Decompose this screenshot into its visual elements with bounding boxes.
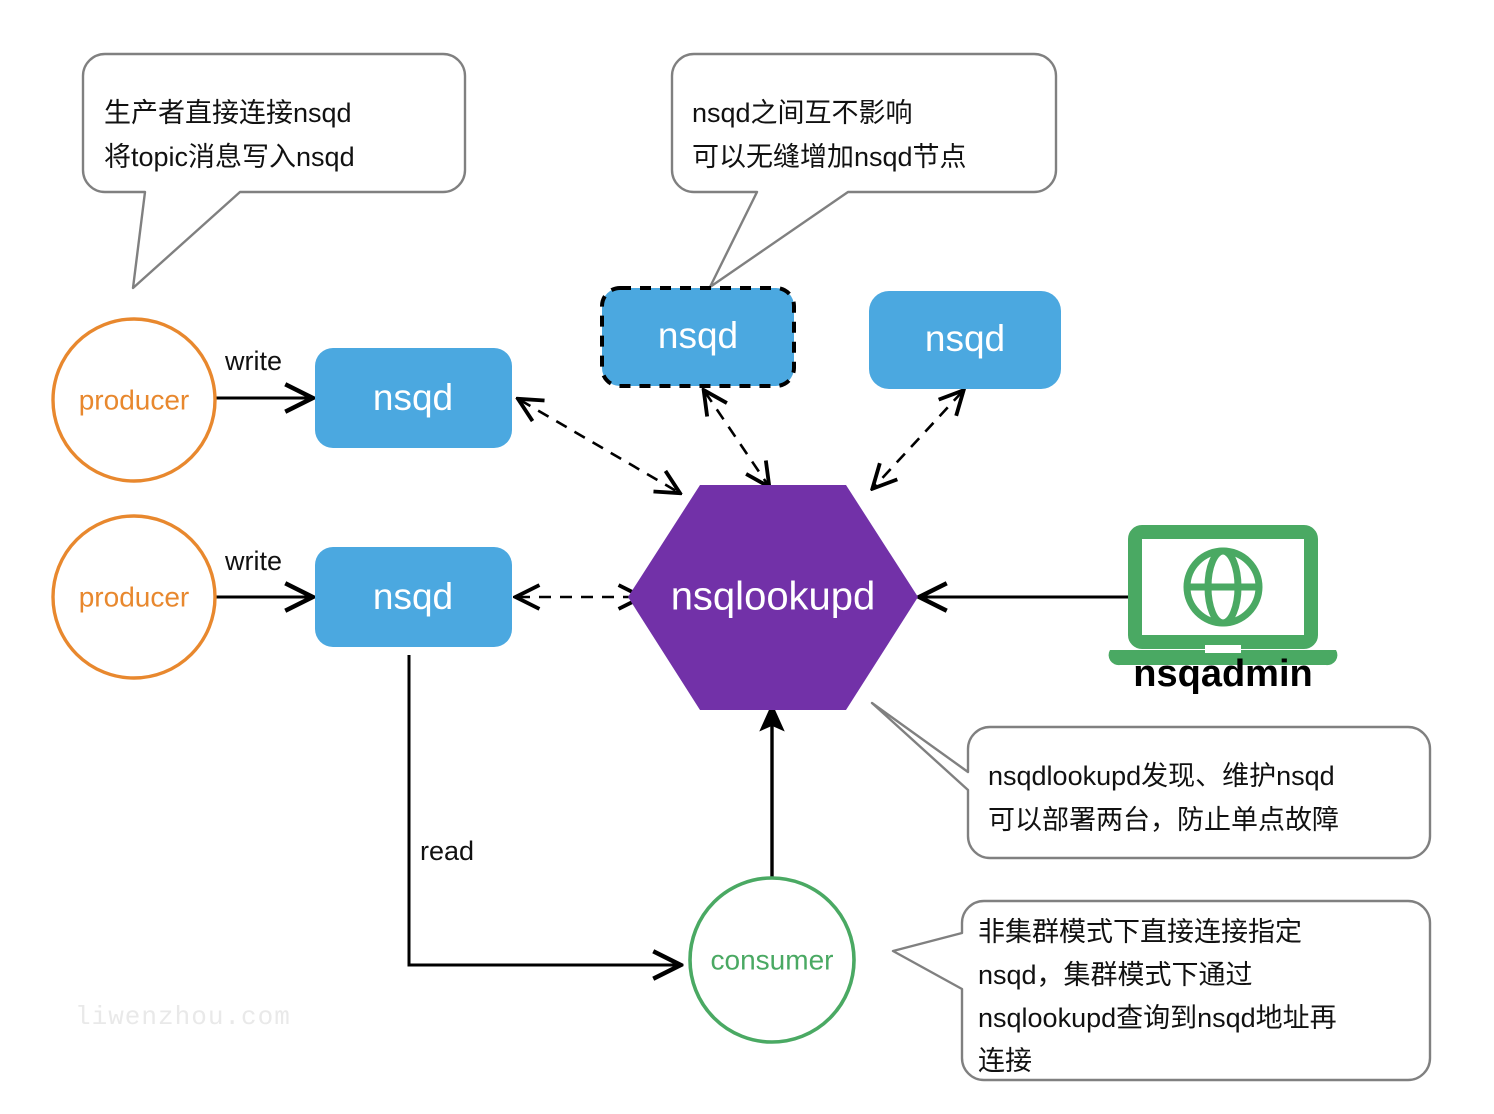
nsqd-left-bottom-label: nsqd [373, 576, 453, 617]
globe-icon [1187, 551, 1259, 623]
edge-producer-bottom-to-nsqd: write [216, 546, 310, 597]
node-nsqd-left-bottom[interactable]: nsqd [315, 547, 512, 647]
node-nsqd-right-top[interactable]: nsqd [869, 291, 1061, 389]
nsqadmin-label: nsqadmin [1133, 653, 1312, 695]
node-nsqlookupd[interactable]: nsqlookupd [628, 485, 918, 710]
node-producer-top[interactable]: producer [53, 319, 215, 481]
edge-label-read: read [420, 836, 474, 866]
callout-consumer: 非集群模式下直接连接指定 nsqd，集群模式下通过 nsqlookupd查询到n… [893, 901, 1430, 1080]
edge-nsqd-centertop-nsqlookupd [705, 392, 768, 485]
edge-producer-top-to-nsqd: write [216, 346, 310, 398]
diagram-canvas: 生产者直接连接nsqd 将topic消息写入nsqd nsqd之间互不影响 可以… [0, 0, 1494, 1114]
callout-nsqlookupd-line-1: nsqdlookupd发现、维护nsqd [988, 761, 1335, 791]
laptop-globe-icon [1109, 532, 1338, 665]
callout-nsqd: nsqd之间互不影响 可以无缝增加nsqd节点 [672, 54, 1056, 287]
callout-nsqlookupd: nsqdlookupd发现、维护nsqd 可以部署两台，防止单点故障 [872, 703, 1430, 858]
nsqd-center-top-label: nsqd [658, 315, 738, 356]
callout-nsqd-line-2: 可以无缝增加nsqd节点 [692, 142, 967, 172]
node-nsqd-center-top[interactable]: nsqd [602, 288, 794, 386]
producer-top-label: producer [79, 384, 190, 415]
nsqd-left-top-label: nsqd [373, 377, 453, 418]
node-consumer[interactable]: consumer [690, 878, 854, 1042]
nsq-architecture-diagram: 生产者直接连接nsqd 将topic消息写入nsqd nsqd之间互不影响 可以… [0, 0, 1494, 1114]
nsqlookupd-label: nsqlookupd [671, 575, 876, 619]
edge-nsqd-lefttop-nsqlookupd [520, 400, 678, 492]
callout-producer: 生产者直接连接nsqd 将topic消息写入nsqd [83, 54, 465, 288]
consumer-label: consumer [711, 944, 834, 975]
callout-consumer-line-4: 连接 [978, 1046, 1032, 1076]
edge-nsqd-to-consumer-read: read [409, 655, 678, 965]
laptop-notch [1205, 645, 1241, 653]
callout-producer-line-1: 生产者直接连接nsqd [104, 98, 352, 128]
nsqd-right-top-label: nsqd [925, 318, 1005, 359]
callout-nsqlookupd-line-2: 可以部署两台，防止单点故障 [988, 805, 1339, 835]
node-producer-bottom[interactable]: producer [53, 516, 215, 678]
producer-bottom-label: producer [79, 581, 190, 612]
edge-label-write-bottom: write [224, 546, 282, 576]
callout-nsqd-line-1: nsqd之间互不影响 [692, 98, 913, 128]
callout-producer-line-2: 将topic消息写入nsqd [104, 142, 355, 172]
edge-nsqd-righttop-nsqlookupd [874, 392, 962, 487]
node-nsqd-left-top[interactable]: nsqd [315, 348, 512, 448]
callout-consumer-line-3: nsqlookupd查询到nsqd地址再 [978, 1003, 1337, 1033]
callout-consumer-line-1: 非集群模式下直接连接指定 [978, 917, 1302, 947]
callout-consumer-line-2: nsqd，集群模式下通过 [978, 960, 1253, 990]
node-nsqadmin[interactable]: nsqadmin [1109, 532, 1338, 695]
edge-label-write-top: write [224, 346, 282, 376]
watermark-text: liwenzhou.com [75, 1002, 291, 1032]
